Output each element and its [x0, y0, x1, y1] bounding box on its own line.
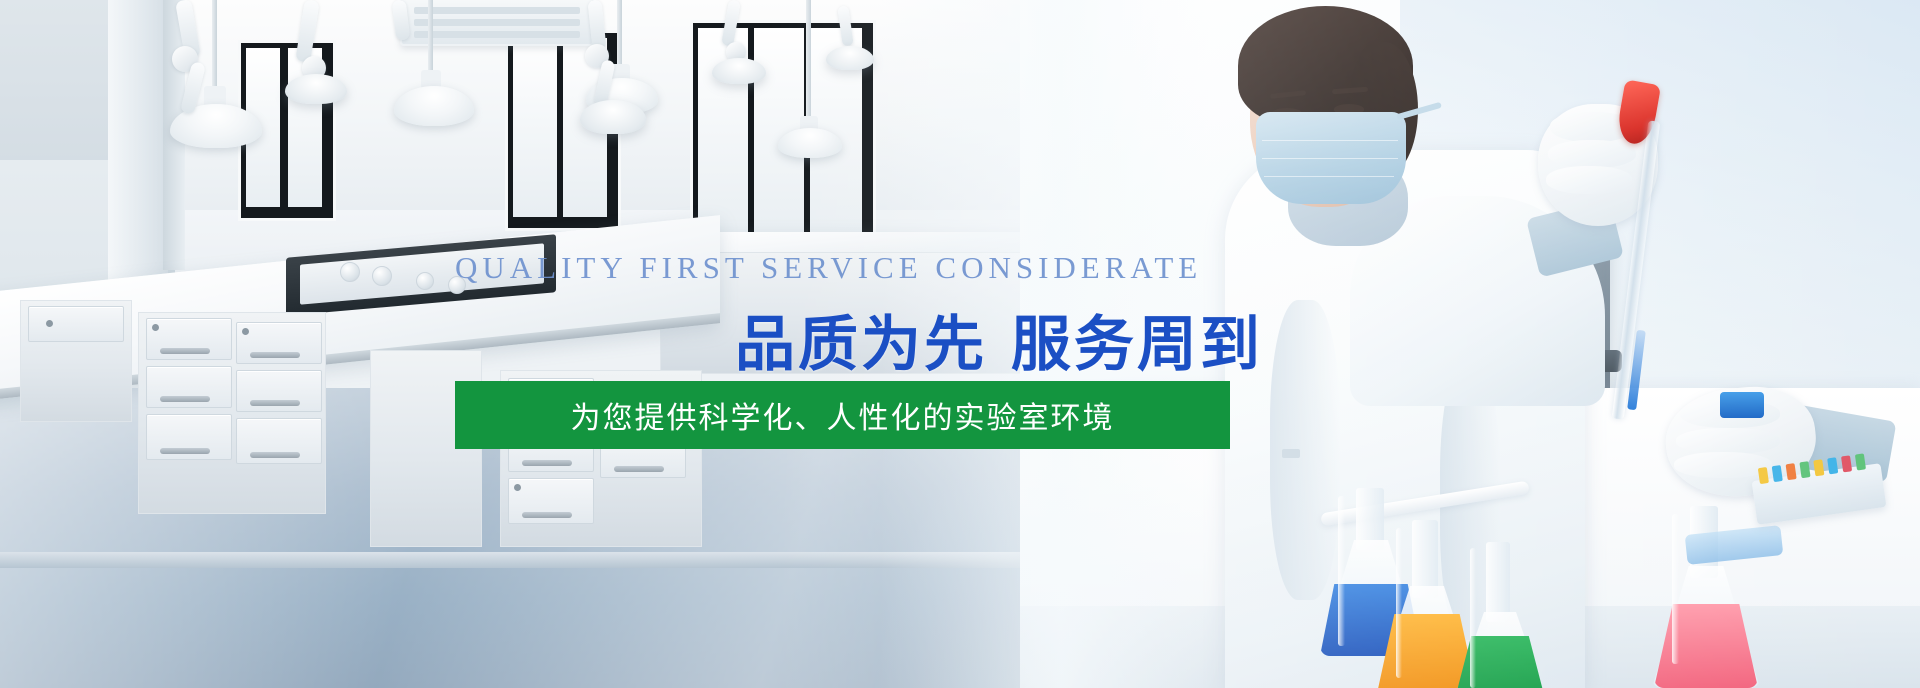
headline-chinese: 品质为先 服务周到: [735, 296, 1263, 383]
hero-banner: QUALITY FIRST SERVICE CONSIDERATE 品质为先 服…: [0, 0, 1920, 688]
subtitle-green-bar: 为您提供科学化、人性化的实验室环境: [455, 381, 1230, 449]
tagline-english: QUALITY FIRST SERVICE CONSIDERATE: [455, 250, 1202, 286]
banner-text-overlay: QUALITY FIRST SERVICE CONSIDERATE 品质为先 服…: [0, 0, 1920, 688]
subtitle-chinese: 为您提供科学化、人性化的实验室环境: [455, 381, 1230, 449]
